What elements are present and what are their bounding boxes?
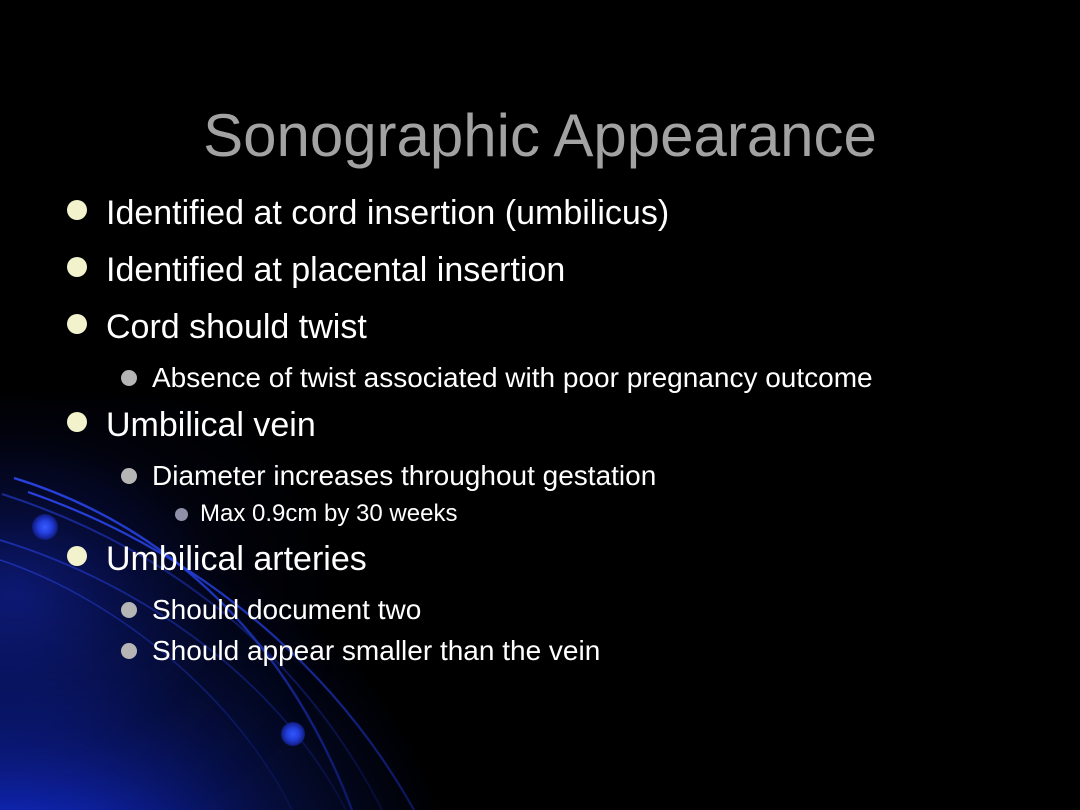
slide-body-content: Identified at cord insertion (umbilicus)… — [0, 186, 1080, 671]
bullet-item-level1: Cord should twist — [0, 300, 1080, 355]
presentation-slide: Sonographic Appearance Identified at cor… — [0, 0, 1080, 810]
slide-title: Sonographic Appearance — [0, 104, 1080, 167]
bullet-item-level2: Should appear smaller than the vein — [0, 630, 1080, 671]
bullet-marker-icon — [175, 508, 188, 521]
bullet-text: Diameter increases throughout gestation — [152, 455, 940, 496]
bullet-item-level1: Identified at cord insertion (umbilicus) — [0, 186, 1080, 241]
bullet-marker-icon — [121, 468, 137, 484]
bullet-marker-icon — [121, 602, 137, 618]
bullet-text: Identified at cord insertion (umbilicus) — [106, 186, 1040, 241]
bullet-text: Identified at placental insertion — [106, 243, 1040, 298]
bullet-item-level1: Umbilical vein — [0, 398, 1080, 453]
bullet-marker-icon — [67, 200, 87, 220]
bullet-marker-icon — [121, 370, 137, 386]
bullet-marker-icon — [121, 643, 137, 659]
bullet-text: Max 0.9cm by 30 weeks — [200, 496, 1040, 532]
bullet-item-level1: Umbilical arteries — [0, 532, 1080, 587]
bullet-text: Should document two — [152, 589, 940, 630]
bullet-marker-icon — [67, 314, 87, 334]
bullet-item-level2: Diameter increases throughout gestation — [0, 455, 1080, 496]
bullet-text: Absence of twist associated with poor pr… — [152, 357, 940, 398]
bullet-marker-icon — [67, 257, 87, 277]
bullet-text: Umbilical vein — [106, 398, 1040, 453]
bullet-text: Umbilical arteries — [106, 532, 1040, 587]
bullet-marker-icon — [67, 412, 87, 432]
bullet-item-level3: Max 0.9cm by 30 weeks — [0, 496, 1080, 532]
glow-dot-lower — [281, 722, 305, 746]
bullet-item-level2: Absence of twist associated with poor pr… — [0, 357, 1080, 398]
bullet-text: Should appear smaller than the vein — [152, 630, 940, 671]
bullet-item-level1: Identified at placental insertion — [0, 243, 1080, 298]
bullet-marker-icon — [67, 546, 87, 566]
bullet-item-level2: Should document two — [0, 589, 1080, 630]
bullet-text: Cord should twist — [106, 300, 1040, 355]
